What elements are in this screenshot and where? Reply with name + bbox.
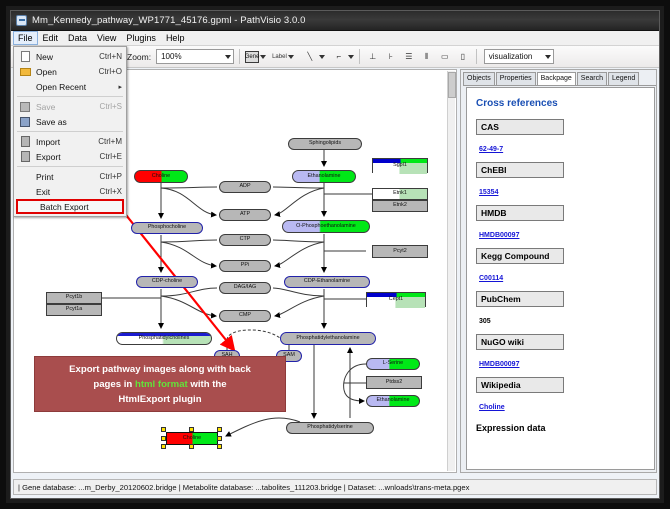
xref-header-pubchem: PubChem — [476, 291, 564, 307]
selection-handle[interactable] — [217, 444, 222, 449]
open-folder-icon — [18, 66, 32, 78]
visualization-value: visualization — [489, 52, 533, 61]
blank-icon — [22, 201, 36, 213]
gene-pcyt2[interactable]: Pcyt2 — [372, 245, 428, 258]
xref-value-cas[interactable]: 62-49-7 — [479, 146, 503, 153]
menu-item-open[interactable]: Open Ctrl+O — [14, 64, 126, 79]
menu-separator — [17, 166, 123, 167]
annotation-callout: Export pathway images along with back pa… — [34, 356, 286, 412]
file-menu-popup[interactable]: New Ctrl+N Open Ctrl+O Open Recent ▸ Sav… — [13, 46, 127, 217]
xref-value-wikipedia[interactable]: Choline — [479, 404, 505, 411]
align-left-icon[interactable]: ⊦ — [383, 49, 399, 65]
selection-handle[interactable] — [189, 444, 194, 449]
node-phosphatidylcholines[interactable]: Phosphatidylcholines — [116, 332, 212, 345]
node-cmp[interactable]: CMP — [219, 310, 271, 322]
xref-value-kegg[interactable]: C00114 — [479, 275, 503, 282]
xref-value-chebi[interactable]: 15354 — [479, 189, 498, 196]
menu-item-import[interactable]: Import Ctrl+M — [14, 134, 126, 149]
chevron-down-icon — [288, 55, 294, 59]
node-o-phosphoethanolamine[interactable]: O-Phosphoethanolamine — [282, 220, 370, 233]
toolbar-separator — [476, 49, 477, 64]
node-ethanolamine[interactable]: Ethanolamine — [292, 170, 356, 183]
gene-pcyt1a[interactable]: Pcyt1a — [46, 304, 102, 316]
node-phosphocholine[interactable]: Phosphocholine — [131, 222, 203, 234]
node-atp[interactable]: ATP — [219, 209, 271, 221]
callout-line3: HtmlExport plugin — [118, 394, 201, 405]
cross-references-title: Cross references — [476, 98, 645, 109]
tab-backpage[interactable]: Backpage — [537, 72, 576, 85]
expression-data-header: Expression data — [476, 423, 645, 433]
chevron-down-icon — [225, 55, 231, 59]
gene-pcyt1b[interactable]: Pcyt1b — [46, 292, 102, 304]
gene-icon: Gene — [245, 51, 259, 63]
node-choline-top[interactable]: Choline — [134, 170, 188, 183]
menu-view[interactable]: View — [92, 31, 121, 45]
toolbar-separator — [359, 49, 360, 64]
menu-help[interactable]: Help — [161, 31, 190, 45]
side-panel: Objects Properties Backpage Search Legen… — [460, 69, 657, 473]
selection-handle[interactable] — [161, 427, 166, 432]
menu-plugins[interactable]: Plugins — [121, 31, 161, 45]
save-as-icon — [18, 116, 32, 128]
canvas-vertical-scrollbar[interactable] — [447, 71, 455, 471]
node-ppi[interactable]: PPi — [219, 260, 271, 272]
same-height-icon[interactable]: ▯ — [455, 49, 471, 65]
tab-search[interactable]: Search — [577, 72, 607, 85]
export-icon — [18, 151, 32, 163]
zoom-value: 100% — [161, 52, 181, 61]
callout-line1: Export pathway images along with back — [69, 364, 251, 375]
xref-header-cas: CAS — [476, 119, 564, 135]
backpage-content[interactable]: Cross references CAS 62-49-7 ChEBI 15354… — [466, 87, 655, 470]
callout-line2-a: pages in — [93, 379, 135, 390]
datanode-dropdown[interactable]: Gene — [245, 51, 266, 63]
title-bar: Mm_Kennedy_pathway_WP1771_45176.gpml - P… — [11, 11, 659, 31]
zoom-combo[interactable]: 100% — [156, 49, 234, 64]
menu-item-export[interactable]: Export Ctrl+E — [14, 149, 126, 164]
xref-value-hmdb[interactable]: HMDB00097 — [479, 232, 519, 239]
xref-header-wikipedia: Wikipedia — [476, 377, 564, 393]
xref-header-nugo: NuGO wiki — [476, 334, 564, 350]
node-ethanolamine-2[interactable]: Ethanolamine — [366, 395, 420, 407]
menu-item-exit[interactable]: Exit Ctrl+X — [14, 184, 126, 199]
node-cdp-ethanolamine[interactable]: CDP-Ethanolamine — [284, 276, 370, 288]
distribute-horz-icon[interactable]: ⦀ — [419, 49, 435, 65]
gene-etnk2[interactable]: Etnk2 — [372, 200, 428, 212]
selection-handle[interactable] — [217, 427, 222, 432]
blank-icon — [18, 171, 32, 183]
menu-bar: File Edit Data View Plugins Help — [11, 31, 659, 46]
selection-handle[interactable] — [161, 436, 166, 441]
blank-icon — [18, 186, 32, 198]
chevron-down-icon — [348, 55, 354, 59]
selection-handle[interactable] — [217, 436, 222, 441]
distribute-vert-icon[interactable]: ☰ — [401, 49, 417, 65]
node-dag[interactable]: DAG/IAG — [219, 282, 271, 294]
scroll-thumb[interactable] — [448, 72, 456, 98]
gene-sgpl1[interactable]: Sgpl1 — [372, 158, 428, 173]
node-cdp-choline[interactable]: CDP-choline — [136, 276, 198, 288]
same-width-icon[interactable]: ▭ — [437, 49, 453, 65]
menu-data[interactable]: Data — [63, 31, 92, 45]
interaction-dropdown[interactable]: ⌐ — [331, 49, 354, 65]
menu-item-batch-export[interactable]: Batch Export — [16, 199, 124, 214]
line-dropdown[interactable]: ╲ — [302, 49, 325, 65]
save-icon — [18, 101, 32, 113]
chevron-down-icon — [260, 55, 266, 59]
align-top-icon[interactable]: ⊥ — [365, 49, 381, 65]
xref-header-hmdb: HMDB — [476, 205, 564, 221]
new-document-icon — [18, 51, 32, 63]
callout-line2-b: with the — [188, 379, 227, 390]
tab-properties[interactable]: Properties — [496, 72, 536, 85]
gene-ptdss2[interactable]: Ptdss2 — [366, 376, 422, 389]
menu-separator — [17, 131, 123, 132]
node-l-serine[interactable]: L-Serine — [366, 358, 420, 370]
menu-item-new[interactable]: New Ctrl+N — [14, 49, 126, 64]
xref-header-chebi: ChEBI — [476, 162, 564, 178]
tab-objects[interactable]: Objects — [463, 72, 495, 85]
status-bar: | Gene database: ...m_Derby_20120602.bri… — [13, 479, 657, 495]
chevron-down-icon — [319, 55, 325, 59]
xref-header-kegg: Kegg Compound — [476, 248, 564, 264]
toolbar-separator — [239, 49, 240, 64]
pathvisio-window: Mm_Kennedy_pathway_WP1771_45176.gpml - P… — [10, 10, 660, 499]
submenu-arrow-icon: ▸ — [118, 83, 122, 91]
import-icon — [18, 136, 32, 148]
menu-item-print[interactable]: Print Ctrl+P — [14, 169, 126, 184]
node-ctp[interactable]: CTP — [219, 234, 271, 246]
xref-value-nugo[interactable]: HMDB00097 — [479, 361, 519, 368]
callout-highlight: html format — [135, 379, 188, 390]
gene-etnk1[interactable]: Etnk1 — [372, 188, 428, 200]
screenshot-frame: Mm_Kennedy_pathway_WP1771_45176.gpml - P… — [0, 0, 670, 509]
chevron-down-icon — [545, 55, 551, 59]
menu-file[interactable]: File — [13, 31, 38, 45]
status-text: | Gene database: ...m_Derby_20120602.bri… — [18, 483, 469, 492]
tab-legend[interactable]: Legend — [608, 72, 639, 85]
label-tool-label: Label — [272, 54, 287, 60]
xref-value-pubchem: 305 — [479, 318, 491, 325]
blank-icon — [18, 81, 32, 93]
menu-separator — [17, 96, 123, 97]
window-title: Mm_Kennedy_pathway_WP1771_45176.gpml - P… — [32, 15, 306, 26]
menu-item-open-recent[interactable]: Open Recent ▸ — [14, 79, 126, 94]
selection-handle[interactable] — [161, 444, 166, 449]
line-icon: ╲ — [302, 49, 318, 65]
label-dropdown[interactable]: Label — [272, 54, 294, 60]
node-phosphatidylethanolamine[interactable]: Phosphatidylethanolamine — [280, 332, 376, 345]
app-icon — [16, 15, 27, 26]
node-adp[interactable]: ADP — [219, 181, 271, 193]
menu-item-save-as[interactable]: Save as — [14, 114, 126, 129]
interaction-icon: ⌐ — [331, 49, 347, 65]
menu-edit[interactable]: Edit — [38, 31, 64, 45]
zoom-label: Zoom: — [127, 52, 151, 62]
menu-item-save: Save Ctrl+S — [14, 99, 126, 114]
selection-handle[interactable] — [189, 427, 194, 432]
gene-cept1[interactable]: Cept1 — [366, 292, 426, 307]
visualization-combo[interactable]: visualization — [484, 49, 554, 64]
node-sphingolipids[interactable]: Sphingolipids — [288, 138, 362, 150]
node-phosphatidylserine[interactable]: Phosphatidylserine — [286, 422, 374, 434]
side-panel-tabs: Objects Properties Backpage Search Legen… — [463, 72, 656, 86]
